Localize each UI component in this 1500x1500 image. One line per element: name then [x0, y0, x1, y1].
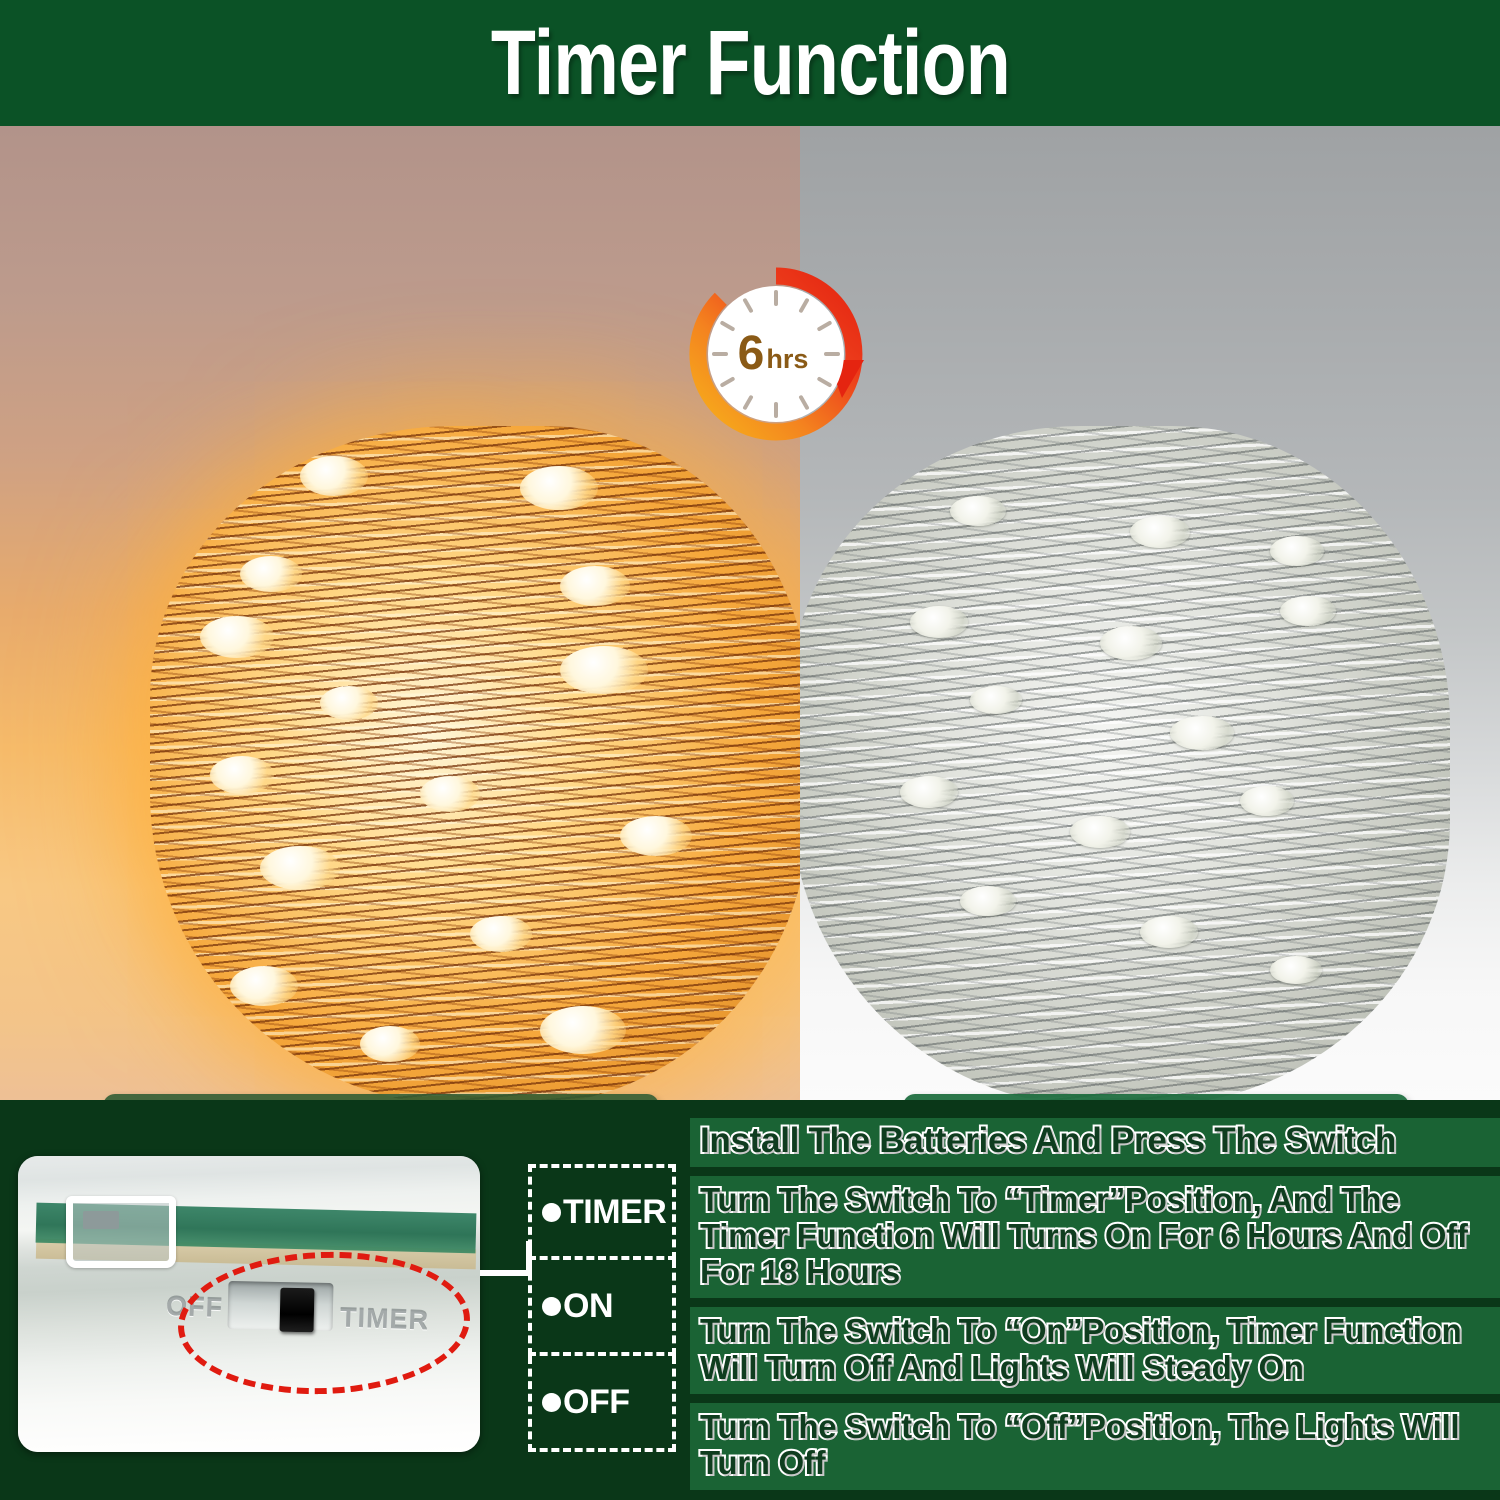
led-dot [1270, 956, 1322, 984]
lit-fairy-lights-photo [0, 126, 800, 1100]
legend-label-timer: TIMER [563, 1195, 666, 1229]
infographic-page: Timer Function [0, 0, 1500, 1500]
led-dot [1070, 816, 1130, 848]
led-dot [300, 456, 368, 496]
led-dot [900, 776, 958, 808]
bullet-dot-icon [542, 1297, 561, 1316]
legend-row-off[interactable]: OFF [528, 1356, 676, 1452]
legend-label-off: OFF [563, 1385, 629, 1419]
bullet-dot-icon [542, 1203, 561, 1222]
instruction-panel-off: Turn The Switch To “Off”Position, The Li… [690, 1403, 1500, 1490]
led-dot [1170, 716, 1234, 750]
instruction-panels: Install The Batteries And Press The Swit… [690, 1118, 1500, 1490]
timer-badge-value: 6 [738, 330, 765, 378]
instruction-text-timer: Turn The Switch To “Timer”Position, And … [700, 1182, 1490, 1291]
led-dot [260, 846, 340, 890]
led-dot [240, 556, 302, 592]
battery-box-switch-photo: OFF TIMER [18, 1156, 480, 1452]
led-dot [910, 606, 968, 638]
led-dot [230, 966, 298, 1006]
led-dot [1100, 626, 1162, 660]
legend-row-timer[interactable]: TIMER [528, 1164, 676, 1260]
instruction-heading-text: Install The Batteries And Press The Swit… [700, 1122, 1490, 1161]
led-dot [560, 566, 630, 606]
led-dot [1140, 916, 1198, 948]
battery-clip [66, 1196, 176, 1268]
page-title: Timer Function [490, 17, 1009, 109]
battery-clip-slot [83, 1211, 119, 1229]
led-dot [360, 1026, 420, 1062]
unlit-fairy-lights-photo [800, 126, 1500, 1100]
led-dot [200, 616, 274, 658]
led-dot [1240, 786, 1294, 816]
led-dot [560, 646, 648, 694]
timer-badge-text: 6 hrs [688, 266, 864, 442]
led-dot [1130, 516, 1190, 548]
led-dot [620, 816, 692, 856]
led-dot [320, 686, 378, 720]
instruction-heading-panel: Install The Batteries And Press The Swit… [690, 1118, 1500, 1167]
legend-label-on: ON [563, 1289, 613, 1323]
led-dot [520, 466, 598, 510]
switch-position-legend: TIMER ON OFF [528, 1164, 676, 1452]
legend-row-on[interactable]: ON [528, 1260, 676, 1356]
led-dot [1270, 536, 1324, 566]
instruction-panel-timer: Turn The Switch To “Timer”Position, And … [690, 1176, 1500, 1299]
timer-badge: 6 hrs [688, 266, 864, 442]
instruction-panel-on: Turn The Switch To “On”Position, Timer F… [690, 1307, 1500, 1394]
unlit-wire-coil [800, 426, 1450, 1100]
led-dot [210, 756, 274, 794]
bullet-dot-icon [542, 1393, 561, 1412]
led-dot [420, 776, 480, 812]
led-dot [950, 496, 1006, 526]
led-dot [540, 1006, 626, 1054]
hero-comparison: 6 hrs 6 Hours Auto On 18 Hours off [0, 126, 1500, 1100]
instruction-text-on: Turn The Switch To “On”Position, Timer F… [700, 1313, 1490, 1386]
led-dot [970, 686, 1022, 714]
callout-connector-line [480, 1270, 532, 1276]
led-dot [470, 916, 532, 952]
instruction-text-off: Turn The Switch To “Off”Position, The Li… [700, 1409, 1490, 1482]
page-header: Timer Function [0, 0, 1500, 126]
led-dot [1280, 596, 1336, 626]
led-dot [960, 886, 1016, 916]
timer-badge-unit: hrs [766, 346, 808, 373]
